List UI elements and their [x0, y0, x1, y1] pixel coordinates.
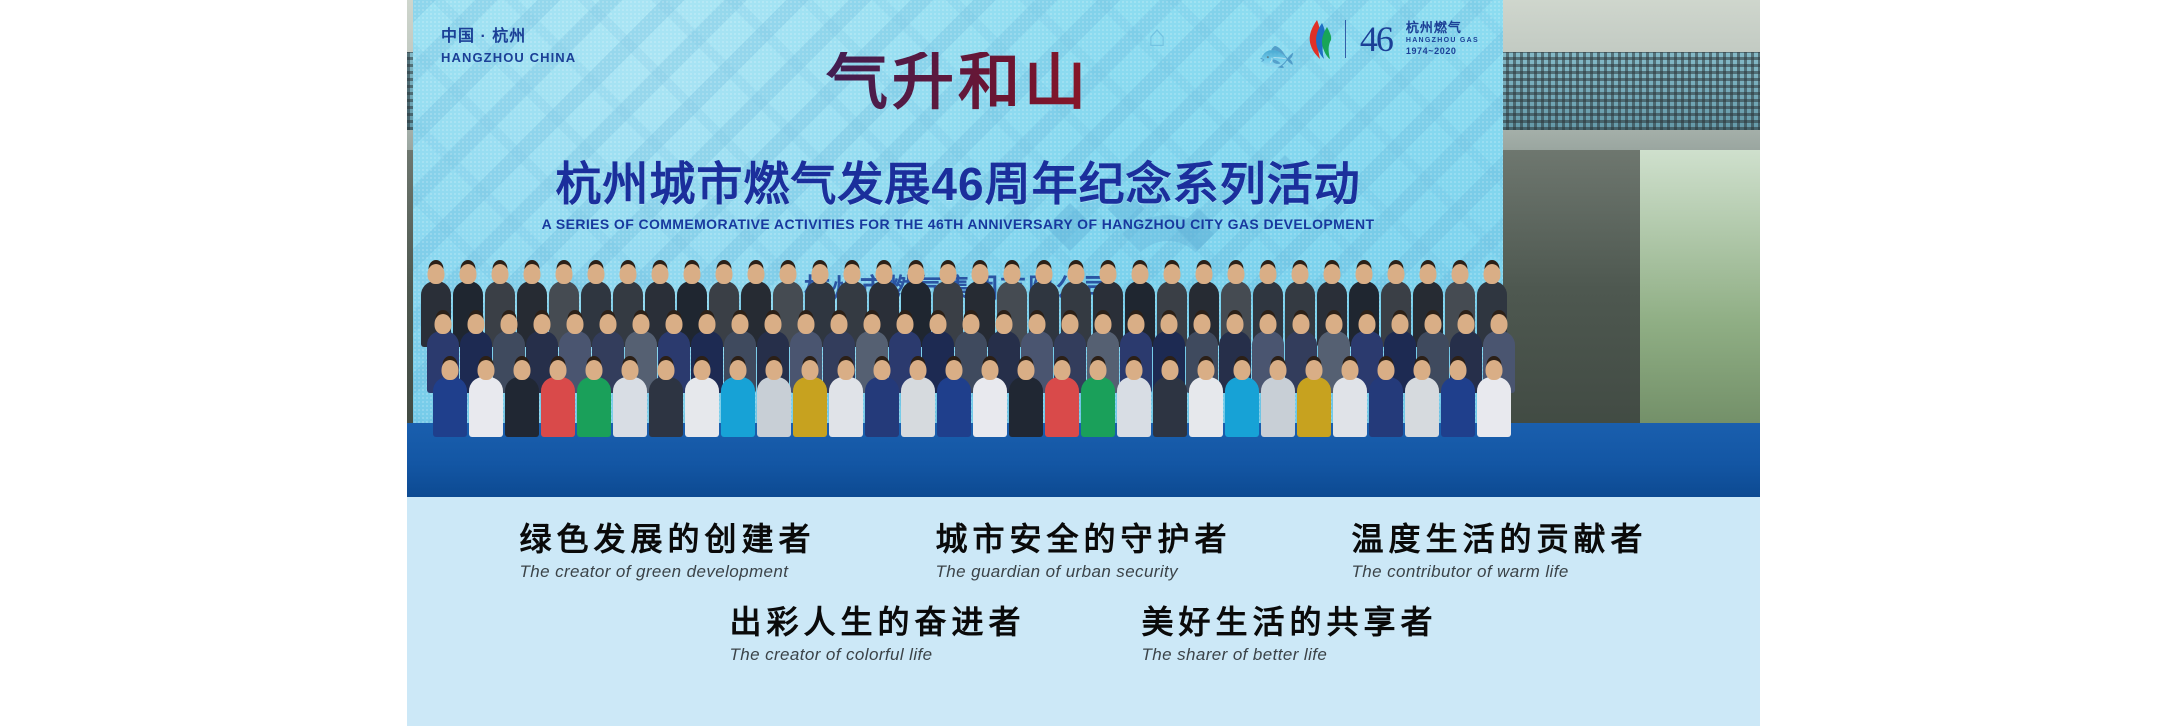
attendee-figure — [1045, 377, 1079, 437]
slogan-cn: 绿色发展的创建者 — [519, 521, 815, 558]
attendee-head — [492, 264, 509, 284]
attendee-head — [556, 264, 573, 284]
attendee-head — [588, 264, 605, 284]
attendee-head — [748, 264, 765, 284]
attendee-head — [812, 264, 829, 284]
attendee-figure — [1369, 377, 1403, 437]
attendee-head — [1260, 314, 1277, 334]
attendee-figure — [1117, 377, 1151, 437]
slogan-item: 温度生活的贡献者 The contributor of warm life — [1352, 521, 1648, 582]
attendee-head — [982, 360, 999, 380]
attendee-head — [780, 264, 797, 284]
main-heading-en: A SERIES OF COMMEMORATIVE ACTIVITIES FOR… — [413, 216, 1503, 232]
slogan-en: The guardian of urban security — [935, 562, 1231, 582]
slogan-en: The creator of green development — [519, 562, 815, 582]
attendee-head — [1126, 360, 1143, 380]
slogan-row-two: 出彩人生的奋进者 The creator of colorful life 美好… — [407, 582, 1760, 665]
attendee-figure — [1081, 377, 1115, 437]
attendee-head — [600, 314, 617, 334]
attendee-figure — [1333, 377, 1367, 437]
attendee-head — [1194, 314, 1211, 334]
attendee-head — [1458, 314, 1475, 334]
venue-photo: ⌂ 🐟 ♨ 中国 · 杭州 HANGZHOU CHINA 46 — [407, 0, 1760, 497]
attendee-head — [1228, 264, 1245, 284]
attendee-head — [730, 360, 747, 380]
attendee-head — [972, 264, 989, 284]
attendee-figure — [937, 377, 971, 437]
attendee-head — [684, 264, 701, 284]
content-column: ⌂ 🐟 ♨ 中国 · 杭州 HANGZHOU CHINA 46 — [407, 0, 1760, 726]
attendee-head — [831, 314, 848, 334]
slogan-item: 绿色发展的创建者 The creator of green developmen… — [519, 521, 815, 582]
attendee-head — [1227, 314, 1244, 334]
attendee-head — [586, 360, 603, 380]
attendee-figure — [865, 377, 899, 437]
attendee-head — [1161, 314, 1178, 334]
attendee-figure — [613, 377, 647, 437]
brand-logo-lockup: 46 杭州燃气 HANGZHOU GAS 1974~2020 — [1305, 18, 1479, 60]
attendee-head — [1342, 360, 1359, 380]
attendee-head — [1100, 264, 1117, 284]
attendee-head — [1388, 264, 1405, 284]
attendee-head — [501, 314, 518, 334]
attendee-head — [1234, 360, 1251, 380]
attendee-figure — [1009, 377, 1043, 437]
attendee-head — [1062, 314, 1079, 334]
attendee-figure — [829, 377, 863, 437]
attendee-head — [996, 314, 1013, 334]
attendee-figure — [1405, 377, 1439, 437]
attendee-head — [798, 314, 815, 334]
poster-page: ⌂ 🐟 ♨ 中国 · 杭州 HANGZHOU CHINA 46 — [0, 0, 2179, 726]
attendee-head — [1306, 360, 1323, 380]
attendee-head — [694, 360, 711, 380]
anniversary-number: 46 — [1356, 21, 1396, 57]
attendee-head — [622, 360, 639, 380]
attendee-head — [1324, 264, 1341, 284]
attendee-head — [1196, 264, 1213, 284]
attendee-figure — [901, 377, 935, 437]
attendee-crowd — [407, 236, 1760, 497]
slogan-cn: 温度生活的贡献者 — [1352, 521, 1648, 558]
attendee-head — [946, 360, 963, 380]
attendee-head — [567, 314, 584, 334]
flame-logo-icon — [1305, 18, 1335, 60]
attendee-head — [1029, 314, 1046, 334]
attendee-head — [435, 314, 452, 334]
slogans-section: 绿色发展的创建者 The creator of green developmen… — [407, 497, 1760, 726]
group-photo — [407, 236, 1760, 497]
attendee-head — [1090, 360, 1107, 380]
attendee-head — [897, 314, 914, 334]
attendee-head — [1392, 314, 1409, 334]
artistic-title: 气升和山 — [413, 52, 1503, 114]
attendee-head — [1054, 360, 1071, 380]
attendee-head — [1420, 264, 1437, 284]
attendee-head — [940, 264, 957, 284]
attendee-head — [620, 264, 637, 284]
attendee-figure — [757, 377, 791, 437]
attendee-head — [1292, 264, 1309, 284]
attendee-head — [838, 360, 855, 380]
attendee-head — [864, 314, 881, 334]
attendee-head — [534, 314, 551, 334]
attendee-head — [514, 360, 531, 380]
attendee-head — [1260, 264, 1277, 284]
attendee-figure — [433, 377, 467, 437]
attendee-head — [478, 360, 495, 380]
attendee-head — [1270, 360, 1287, 380]
attendee-head — [652, 264, 669, 284]
attendee-head — [1162, 360, 1179, 380]
attendee-head — [1018, 360, 1035, 380]
attendee-head — [524, 264, 541, 284]
attendee-figure — [685, 377, 719, 437]
attendee-head — [666, 314, 683, 334]
house-decor-icon: ⌂ — [1148, 22, 1166, 52]
attendee-head — [910, 360, 927, 380]
attendee-head — [1068, 264, 1085, 284]
attendee-head — [1452, 264, 1469, 284]
attendee-head — [963, 314, 980, 334]
attendee-head — [1132, 264, 1149, 284]
brand-years: 1974~2020 — [1406, 46, 1479, 57]
slogan-en: The sharer of better life — [1142, 645, 1438, 665]
attendee-head — [1293, 314, 1310, 334]
attendee-head — [1414, 360, 1431, 380]
attendee-head — [802, 360, 819, 380]
slogan-cn: 城市安全的守护者 — [935, 521, 1231, 558]
attendee-head — [874, 360, 891, 380]
attendee-head — [699, 314, 716, 334]
attendee-figure — [1441, 377, 1475, 437]
slogan-item: 出彩人生的奋进者 The creator of colorful life — [729, 604, 1025, 665]
slogan-cn: 美好生活的共享者 — [1142, 604, 1438, 641]
attendee-head — [1198, 360, 1215, 380]
brand-divider — [1345, 20, 1346, 58]
attendee-figure — [577, 377, 611, 437]
attendee-head — [428, 264, 445, 284]
attendee-head — [1425, 314, 1442, 334]
slogan-en: The creator of colorful life — [729, 645, 1025, 665]
attendee-head — [765, 314, 782, 334]
attendee-figure — [541, 377, 575, 437]
attendee-head — [1378, 360, 1395, 380]
attendee-figure — [793, 377, 827, 437]
brand-name-en: HANGZHOU GAS — [1406, 37, 1479, 46]
attendee-head — [1004, 264, 1021, 284]
attendee-head — [658, 360, 675, 380]
attendee-head — [1164, 264, 1181, 284]
slogan-item: 美好生活的共享者 The sharer of better life — [1142, 604, 1438, 665]
attendee-head — [1450, 360, 1467, 380]
attendee-figure — [505, 377, 539, 437]
attendee-head — [460, 264, 477, 284]
brand-words: 杭州燃气 HANGZHOU GAS 1974~2020 — [1406, 20, 1479, 57]
attendee-head — [1036, 264, 1053, 284]
attendee-figure — [469, 377, 503, 437]
attendee-head — [1484, 264, 1501, 284]
attendee-head — [732, 314, 749, 334]
brand-name-cn: 杭州燃气 — [1406, 20, 1479, 36]
location-cn: 中国 · 杭州 — [441, 22, 576, 46]
attendee-head — [844, 264, 861, 284]
attendee-head — [442, 360, 459, 380]
slogan-item: 城市安全的守护者 The guardian of urban security — [935, 521, 1231, 582]
attendee-figure — [1189, 377, 1223, 437]
attendee-figure — [721, 377, 755, 437]
attendee-figure — [1297, 377, 1331, 437]
attendee-head — [1486, 360, 1503, 380]
attendee-figure — [1153, 377, 1187, 437]
attendee-head — [468, 314, 485, 334]
attendee-figure — [1225, 377, 1259, 437]
attendee-head — [766, 360, 783, 380]
slogan-row-one: 绿色发展的创建者 The creator of green developmen… — [407, 497, 1760, 582]
slogan-en: The contributor of warm life — [1352, 562, 1648, 582]
attendee-head — [1356, 264, 1373, 284]
attendee-head — [1326, 314, 1343, 334]
attendee-head — [633, 314, 650, 334]
attendee-head — [1359, 314, 1376, 334]
attendee-head — [930, 314, 947, 334]
attendee-head — [876, 264, 893, 284]
attendee-head — [1095, 314, 1112, 334]
attendee-figure — [1261, 377, 1295, 437]
slogan-cn: 出彩人生的奋进者 — [729, 604, 1025, 641]
attendee-figure — [973, 377, 1007, 437]
attendee-head — [1491, 314, 1508, 334]
attendee-figure — [649, 377, 683, 437]
attendee-head — [550, 360, 567, 380]
attendee-figure — [1477, 377, 1511, 437]
attendee-head — [716, 264, 733, 284]
attendee-head — [908, 264, 925, 284]
attendee-head — [1128, 314, 1145, 334]
main-heading-cn: 杭州城市燃气发展46周年纪念系列活动 — [413, 148, 1503, 214]
